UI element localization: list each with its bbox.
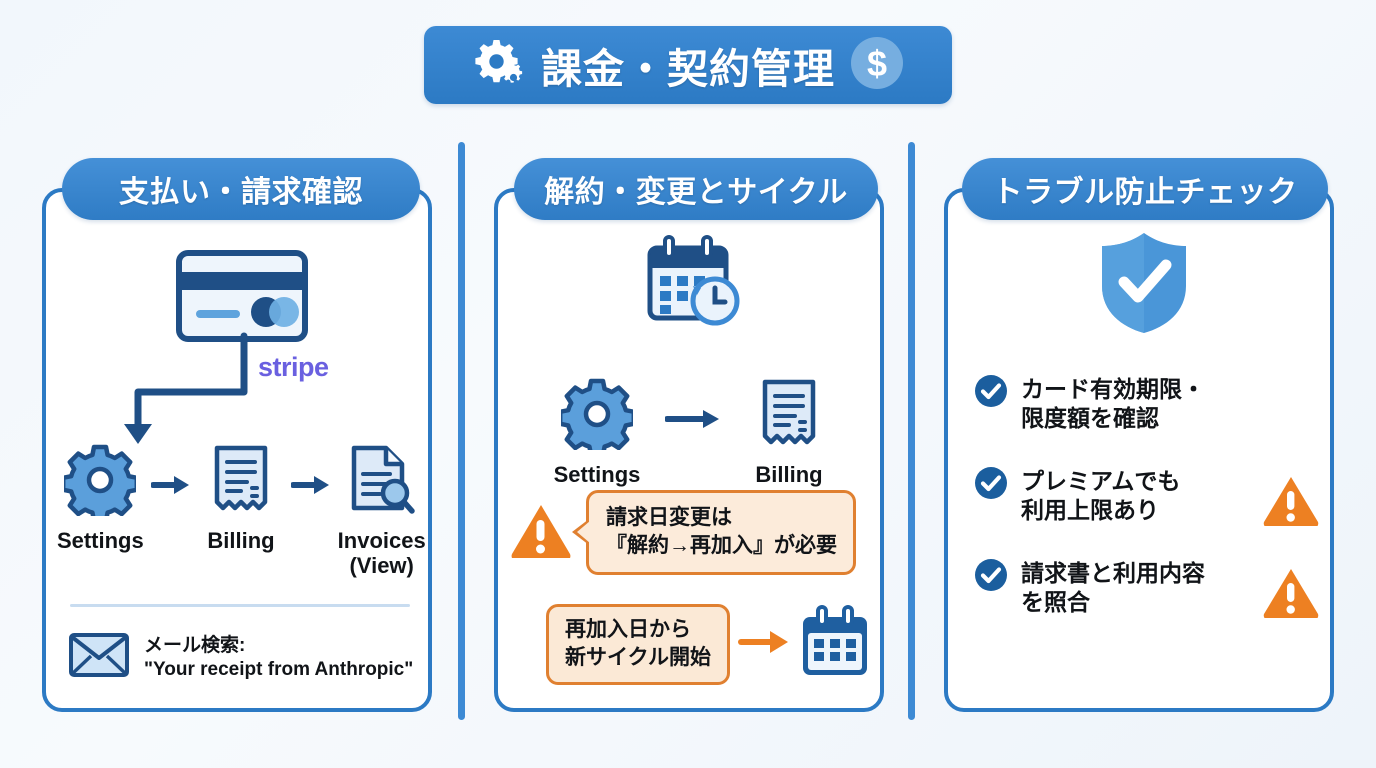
warning-bubble: 請求日変更は 『解約→再加入』が必要: [586, 490, 856, 575]
warning-triangle-icon: [1262, 566, 1320, 623]
checklist-item-label: プレミアムでも 利用上限あり: [1021, 466, 1180, 526]
calendar-icon: [798, 605, 872, 684]
gear-icon: [64, 444, 136, 521]
card-trouble-prevention-check: トラブル防止チェック カード有効期限・ 限度額を確認: [944, 188, 1334, 712]
new-cycle-note: 再加入日から 新サイクル開始: [546, 604, 872, 685]
warning-triangle-icon: [1262, 474, 1320, 531]
flow-arrow-icon: [291, 472, 331, 503]
calendar-clock-icon: [643, 234, 747, 335]
flow-node-billing[interactable]: Billing: [197, 444, 286, 554]
column-divider-2: [908, 142, 915, 720]
checklist-item[interactable]: プレミアムでも 利用上限あり: [974, 466, 1322, 530]
flow-settings-billing-invoices: Settings Billing: [56, 444, 426, 578]
document-search-icon: [348, 444, 416, 521]
orange-right-arrow-icon: [738, 627, 790, 662]
mail-search-hint: メール検索: "Your receipt from Anthropic": [68, 632, 413, 683]
envelope-icon: [68, 632, 130, 683]
flow-label-settings: Settings: [57, 529, 144, 554]
flow-arrow-icon: [665, 406, 721, 437]
check-circle-icon: [974, 558, 1008, 597]
flow-label-settings: Settings: [554, 463, 641, 488]
cycle-note-text: 再加入日から 新サイクル開始: [565, 618, 711, 669]
flow-node-settings[interactable]: Settings: [56, 444, 145, 554]
flow-label-billing: Billing: [207, 529, 274, 554]
billing-date-warning: 請求日変更は 『解約→再加入』が必要: [510, 490, 856, 575]
flow-settings-billing: Settings Billing: [524, 378, 862, 488]
flow-node-invoices[interactable]: Invoices (View): [337, 444, 426, 578]
gears-icon: [471, 36, 527, 95]
elbow-down-arrow: [66, 332, 276, 457]
check-circle-icon: [974, 466, 1008, 505]
card-cancel-change-cycle: 解約・変更とサイクル: [494, 188, 884, 712]
warning-bubble-text: 請求日変更は 『解約→再加入』が必要: [606, 506, 837, 557]
trouble-checklist: カード有効期限・ 限度額を確認 プレミアムでも 利用上限あり: [974, 374, 1322, 650]
section-divider: [70, 604, 410, 607]
receipt-icon: [759, 378, 819, 455]
checklist-item[interactable]: カード有効期限・ 限度額を確認: [974, 374, 1322, 438]
flow-arrow-icon: [151, 472, 191, 503]
flow-label-billing: Billing: [755, 463, 822, 488]
flow-label-invoices: Invoices (View): [337, 529, 426, 578]
receipt-icon: [211, 444, 271, 521]
shield-check-icon: [1096, 230, 1192, 341]
mail-search-text: メール検索: "Your receipt from Anthropic": [144, 634, 413, 682]
check-circle-icon: [974, 374, 1008, 413]
svg-text:$: $: [867, 43, 887, 84]
checklist-item-label: カード有効期限・ 限度額を確認: [1021, 374, 1205, 434]
flow-node-settings[interactable]: Settings: [545, 378, 649, 488]
cycle-note-box: 再加入日から 新サイクル開始: [546, 604, 730, 685]
dollar-circle-icon: $: [849, 35, 905, 96]
column-divider-1: [458, 142, 465, 720]
checklist-item[interactable]: 請求書と利用内容 を照合: [974, 558, 1322, 622]
flow-node-billing[interactable]: Billing: [737, 378, 841, 488]
header-banner: 課金・契約管理 $: [424, 26, 952, 104]
gear-icon: [561, 378, 633, 455]
warning-triangle-icon: [510, 502, 572, 563]
card-payment-billing-check: 支払い・請求確認 stripe: [42, 188, 432, 712]
checklist-item-label: 請求書と利用内容 を照合: [1021, 558, 1205, 618]
page-title: 課金・契約管理: [541, 35, 835, 95]
